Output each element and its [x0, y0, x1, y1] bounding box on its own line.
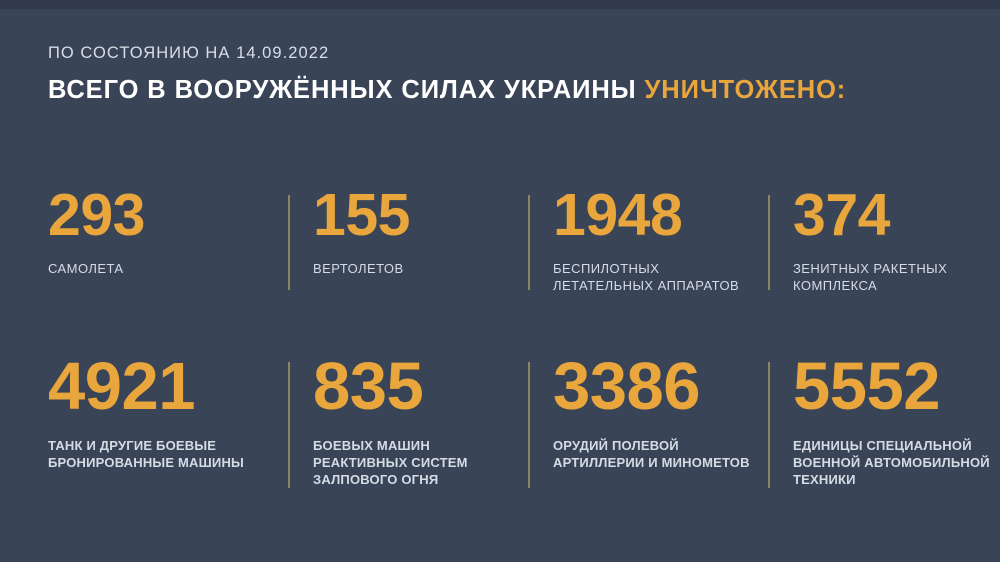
page-title-accent: УНИЧТОЖЕНО:	[645, 76, 847, 104]
stat-cell-uav: 1948 БЕСПИЛОТНЫХ ЛЕТАТЕЛЬНЫХ АППАРАТОВ	[528, 186, 768, 294]
stat-cell-air-defense: 374 ЗЕНИТНЫХ РАКЕТНЫХ КОМПЛЕКСА	[768, 186, 1000, 294]
stat-value: 293	[48, 186, 288, 245]
stat-label: САМОЛЕТА	[48, 261, 288, 278]
stat-label: ЕДИНИЦЫ СПЕЦИАЛЬНОЙ ВОЕННОЙ АВТОМОБИЛЬНО…	[793, 437, 1000, 488]
stat-value: 835	[313, 353, 528, 420]
stat-value: 3386	[553, 353, 768, 420]
stat-label-line: ЕДИНИЦЫ СПЕЦИАЛЬНОЙ	[793, 437, 1000, 454]
infographic-canvas: ПО СОСТОЯНИЮ НА 14.09.2022 ВСЕГО В ВООРУ…	[0, 0, 1000, 562]
column-divider	[288, 195, 290, 290]
column-divider	[528, 195, 530, 290]
header: ПО СОСТОЯНИЮ НА 14.09.2022 ВСЕГО В ВООРУ…	[48, 43, 968, 105]
stat-value: 374	[793, 186, 1000, 245]
stat-label: БОЕВЫХ МАШИН РЕАКТИВНЫХ СИСТЕМ ЗАЛПОВОГО…	[313, 437, 528, 488]
stat-label: ВЕРТОЛЕТОВ	[313, 261, 528, 278]
stat-value: 5552	[793, 353, 1000, 420]
column-divider	[768, 362, 770, 488]
stats-row: 293 САМОЛЕТА 155 ВЕРТОЛЕТОВ 1948 БЕСПИЛО…	[48, 186, 968, 294]
report-date: ПО СОСТОЯНИЮ НА 14.09.2022	[48, 43, 968, 63]
stat-value: 1948	[553, 186, 768, 245]
stat-label-line: ТАНК И ДРУГИЕ БОЕВЫЕ	[48, 437, 288, 454]
column-divider	[288, 362, 290, 488]
stat-label-line: ЛЕТАТЕЛЬНЫХ АППАРАТОВ	[553, 278, 768, 295]
stat-label-line: САМОЛЕТА	[48, 261, 288, 278]
stat-label-line: БОЕВЫХ МАШИН	[313, 437, 528, 454]
stat-label-line: РЕАКТИВНЫХ СИСТЕМ	[313, 454, 528, 471]
page-title: ВСЕГО В ВООРУЖЁННЫХ СИЛАХ УКРАИНЫ УНИЧТО…	[48, 75, 968, 105]
stat-label: ТАНК И ДРУГИЕ БОЕВЫЕ БРОНИРОВАННЫЕ МАШИН…	[48, 437, 288, 471]
stat-cell-mlrs: 835 БОЕВЫХ МАШИН РЕАКТИВНЫХ СИСТЕМ ЗАЛПО…	[288, 353, 528, 488]
stat-label-line: КОМПЛЕКСА	[793, 278, 1000, 295]
page-title-main: ВСЕГО В ВООРУЖЁННЫХ СИЛАХ УКРАИНЫ	[48, 76, 645, 104]
stat-label: БЕСПИЛОТНЫХ ЛЕТАТЕЛЬНЫХ АППАРАТОВ	[553, 261, 768, 294]
stat-label: ЗЕНИТНЫХ РАКЕТНЫХ КОМПЛЕКСА	[793, 261, 1000, 294]
column-divider	[528, 362, 530, 488]
stat-cell-artillery: 3386 ОРУДИЙ ПОЛЕВОЙ АРТИЛЛЕРИИ И МИНОМЕТ…	[528, 353, 768, 471]
stat-cell-aircraft: 293 САМОЛЕТА	[48, 186, 288, 278]
stat-cell-helicopters: 155 ВЕРТОЛЕТОВ	[288, 186, 528, 278]
column-divider	[768, 195, 770, 290]
stat-label-line: ОРУДИЙ ПОЛЕВОЙ	[553, 437, 768, 454]
stat-label: ОРУДИЙ ПОЛЕВОЙ АРТИЛЛЕРИИ И МИНОМЕТОВ	[553, 437, 768, 471]
stat-label-line: БРОНИРОВАННЫЕ МАШИНЫ	[48, 454, 288, 471]
stat-cell-tanks: 4921 ТАНК И ДРУГИЕ БОЕВЫЕ БРОНИРОВАННЫЕ …	[48, 353, 288, 471]
stat-label-line: ЗЕНИТНЫХ РАКЕТНЫХ	[793, 261, 1000, 278]
stat-label-line: ВЕРТОЛЕТОВ	[313, 261, 528, 278]
stat-label-line: ТЕХНИКИ	[793, 471, 1000, 488]
stat-value: 4921	[48, 353, 288, 420]
stat-label-line: ВОЕННОЙ АВТОМОБИЛЬНОЙ	[793, 454, 1000, 471]
stat-label-line: ЗАЛПОВОГО ОГНЯ	[313, 471, 528, 488]
stats-grid: 293 САМОЛЕТА 155 ВЕРТОЛЕТОВ 1948 БЕСПИЛО…	[48, 186, 968, 488]
stat-cell-military-vehicles: 5552 ЕДИНИЦЫ СПЕЦИАЛЬНОЙ ВОЕННОЙ АВТОМОБ…	[768, 353, 1000, 488]
stat-value: 155	[313, 186, 528, 245]
stat-label-line: БЕСПИЛОТНЫХ	[553, 261, 768, 278]
stat-label-line: АРТИЛЛЕРИИ И МИНОМЕТОВ	[553, 454, 768, 471]
stats-row: 4921 ТАНК И ДРУГИЕ БОЕВЫЕ БРОНИРОВАННЫЕ …	[48, 353, 968, 488]
